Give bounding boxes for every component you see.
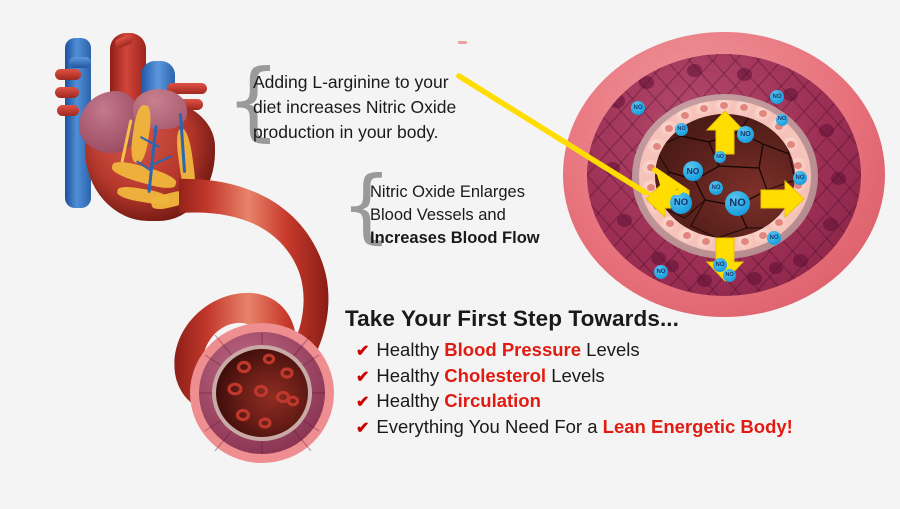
benefit-prefix: Healthy [376, 365, 444, 386]
stray-mark [458, 41, 467, 44]
benefit-item: ✔ Healthy Cholesterol Levels [356, 364, 865, 390]
artery-illustration [165, 175, 370, 475]
no-molecule: NO [675, 123, 688, 136]
no-molecule: NO [654, 265, 668, 279]
no-molecule: NO [793, 171, 807, 185]
no-molecule: NO [776, 114, 788, 126]
artery-svg [165, 175, 370, 475]
benefit-highlight: Blood Pressure [444, 339, 581, 360]
no-molecule: NO [709, 181, 723, 195]
callout-2-line-1: Nitric Oxide Enlarges [370, 181, 585, 204]
callout-2-text: Nitric Oxide Enlarges Blood Vessels and … [370, 181, 585, 250]
blood-vessel-cross-section: NO NO NO NO NO NO NO NO NO NO NO NO NO N… [563, 32, 885, 322]
benefit-highlight: Cholesterol [444, 365, 546, 386]
benefit-text: Everything You Need For a Lean Energetic… [376, 415, 792, 439]
callout-1-line-3: production in your body. [253, 120, 498, 145]
infographic-canvas: { Adding L-arginine to your diet increas… [0, 0, 900, 509]
callout-1-line-2: diet increases Nitric Oxide [253, 95, 498, 120]
artery-branch [55, 69, 81, 80]
no-molecule: NO [631, 101, 645, 115]
callout-2-line-2: Blood Vessels and [370, 204, 585, 227]
artery-branch [57, 105, 79, 116]
no-molecule: NO [714, 151, 726, 163]
benefit-text: Healthy Blood Pressure Levels [376, 338, 639, 362]
vein-branch [69, 57, 91, 68]
check-icon: ✔ [356, 340, 369, 364]
callout-1-line-1: Adding L-arginine to your [253, 70, 498, 95]
benefit-item: ✔ Everything You Need For a Lean Energet… [356, 415, 865, 441]
benefit-text: Healthy Cholesterol Levels [376, 364, 604, 388]
benefit-suffix: Levels [581, 339, 640, 360]
benefit-item: ✔ Healthy Circulation [356, 389, 865, 415]
no-molecule: NO [725, 191, 750, 216]
callout-1-text: Adding L-arginine to your diet increases… [253, 70, 498, 145]
check-icon: ✔ [356, 417, 369, 441]
benefit-item: ✔ Healthy Blood Pressure Levels [356, 338, 865, 364]
benefit-highlight: Circulation [444, 390, 541, 411]
benefit-text: Healthy Circulation [376, 389, 541, 413]
benefit-prefix: Healthy [376, 339, 444, 360]
no-molecule: NO [683, 161, 703, 181]
no-molecule: NO [723, 269, 736, 282]
no-molecule: NO [767, 231, 781, 245]
benefit-suffix: Levels [546, 365, 605, 386]
benefit-prefix: Everything You Need For a [376, 416, 602, 437]
arrow-right [761, 181, 804, 217]
benefits-block: Take Your First Step Towards... ✔ Health… [345, 306, 865, 440]
check-icon: ✔ [356, 391, 369, 415]
callout-2-line-3: Increases Blood Flow [370, 227, 585, 250]
no-molecule: NO [770, 90, 784, 104]
check-icon: ✔ [356, 366, 369, 390]
benefit-prefix: Healthy [376, 390, 444, 411]
no-molecule: NO [737, 126, 754, 143]
no-molecule: NO [670, 192, 692, 214]
artery-branch [55, 87, 79, 98]
benefit-highlight: Lean Energetic Body! [603, 416, 793, 437]
